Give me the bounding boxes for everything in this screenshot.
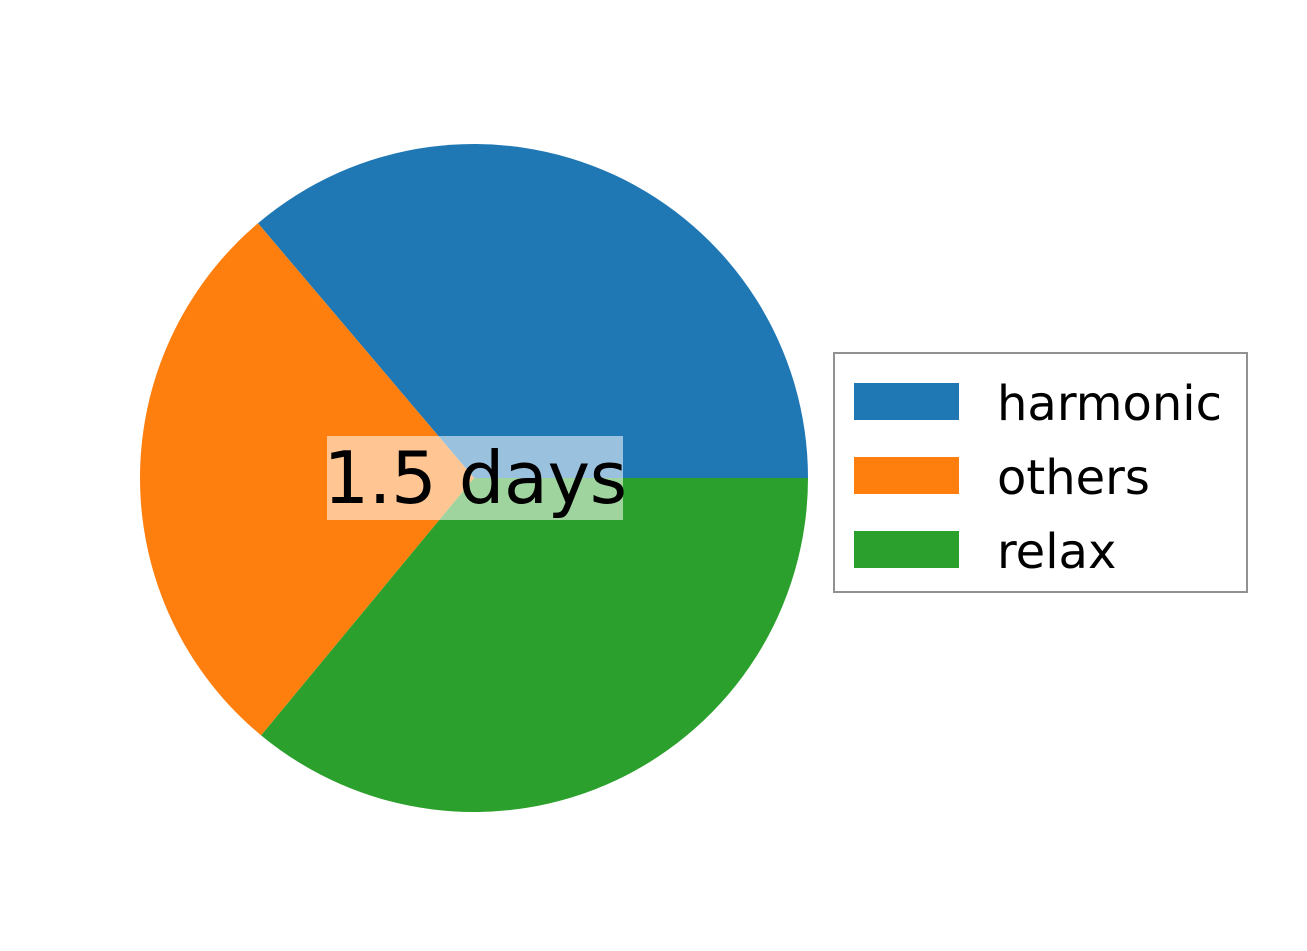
chart-legend: harmonic others relax xyxy=(833,352,1248,593)
figure-canvas: 1.5 days harmonic others relax xyxy=(0,0,1307,951)
legend-label-others: others xyxy=(997,441,1150,515)
legend-swatch-relax xyxy=(854,531,959,568)
legend-swatch-others xyxy=(854,457,959,494)
pie-slices-group xyxy=(140,144,808,812)
legend-item-harmonic[interactable]: harmonic xyxy=(835,367,1246,441)
legend-label-harmonic: harmonic xyxy=(997,367,1222,441)
legend-label-relax: relax xyxy=(997,515,1116,589)
legend-swatch-harmonic xyxy=(854,383,959,420)
legend-item-relax[interactable]: relax xyxy=(835,515,1246,589)
legend-item-others[interactable]: others xyxy=(835,441,1246,515)
